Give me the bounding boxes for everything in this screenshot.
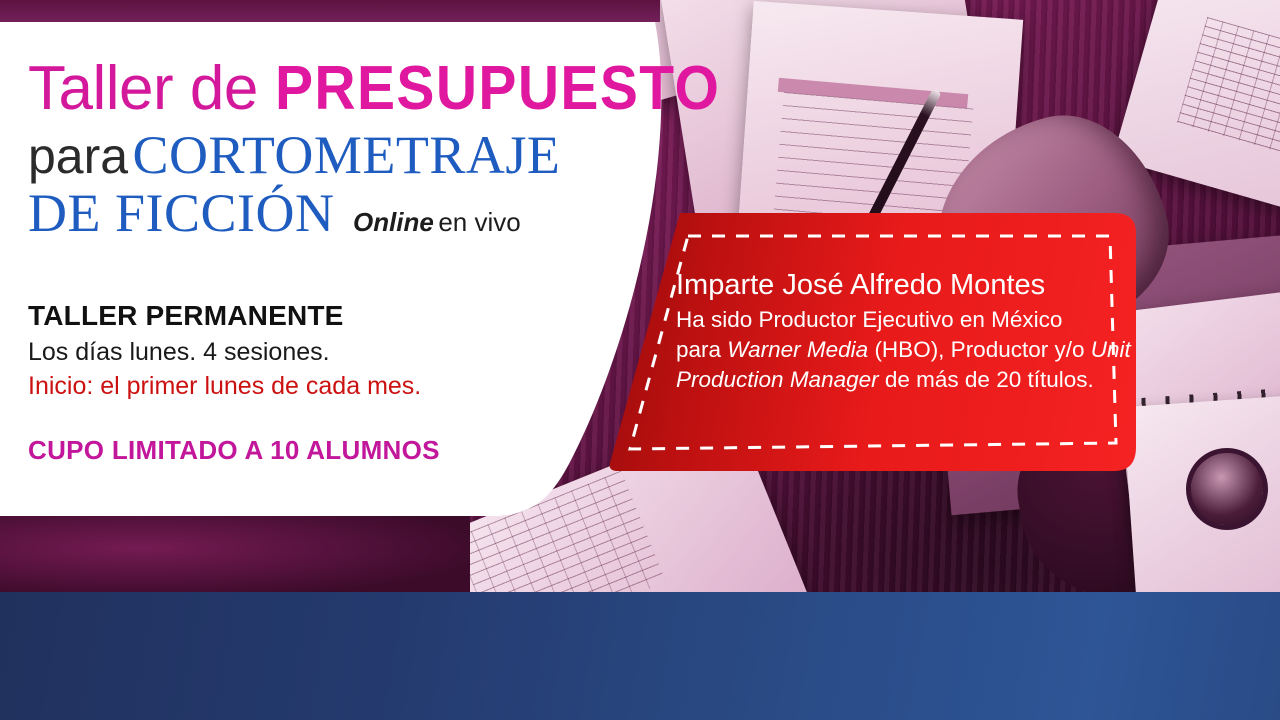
detail-schedule-days: Los días lunes. 4 sesiones. <box>28 338 588 367</box>
detail-taller-permanente: TALLER PERMANENTE <box>28 300 588 332</box>
speaker-bio-titles: de más de 20 títulos. <box>879 367 1094 392</box>
speaker-bio-warner-media: Warner Media <box>727 337 868 362</box>
details-block: TALLER PERMANENTE Los días lunes. 4 sesi… <box>28 300 588 466</box>
speaker-bio-hbo: (HBO), Productor y/o <box>868 337 1091 362</box>
title-en-vivo: en vivo <box>438 207 520 237</box>
detail-seat-limit: CUPO LIMITADO A 10 ALUMNOS <box>28 435 588 466</box>
speaker-bio-para: para <box>676 337 727 362</box>
title-line-3: DE FICCIÓN Online en vivo <box>28 182 688 244</box>
title-line-1: Taller de PRESUPUESTO <box>28 58 688 120</box>
title-online: Online <box>353 207 434 237</box>
title-block: Taller de PRESUPUESTO para CORTOMETRAJE … <box>28 58 688 244</box>
title-cortometraje: CORTOMETRAJE <box>133 125 561 185</box>
poster-canvas: Taller de PRESUPUESTO para CORTOMETRAJE … <box>0 0 1280 720</box>
title-para: para <box>28 128 128 184</box>
title-presupuesto: PRESUPUESTO <box>275 58 720 120</box>
title-line-2: para CORTOMETRAJE <box>28 124 688 186</box>
speaker-bio-line-2: para Warner Media (HBO), Productor y/o U… <box>676 335 1140 365</box>
speaker-bio-production-manager: Production Manager <box>676 367 879 392</box>
speaker-bio-unit: Unit <box>1091 337 1131 362</box>
background-top-strip <box>0 0 660 22</box>
title-taller-de: Taller de <box>28 54 258 123</box>
speaker-bio-line-1: Ha sido Productor Ejecutivo en México <box>676 305 1140 335</box>
background-shadow-area <box>0 516 470 596</box>
footer-bar: Informes: 55 7359 3008 / cinestressprodu… <box>0 592 1280 720</box>
detail-start-date: Inicio: el primer lunes de cada mes. <box>28 372 588 401</box>
title-de-ficcion: DE FICCIÓN <box>28 183 335 243</box>
speaker-name: Imparte José Alfredo Montes <box>676 268 1140 302</box>
speaker-bio-line-3: Production Manager de más de 20 títulos. <box>676 365 1140 395</box>
speaker-text-block: Imparte José Alfredo Montes Ha sido Prod… <box>676 268 1140 395</box>
